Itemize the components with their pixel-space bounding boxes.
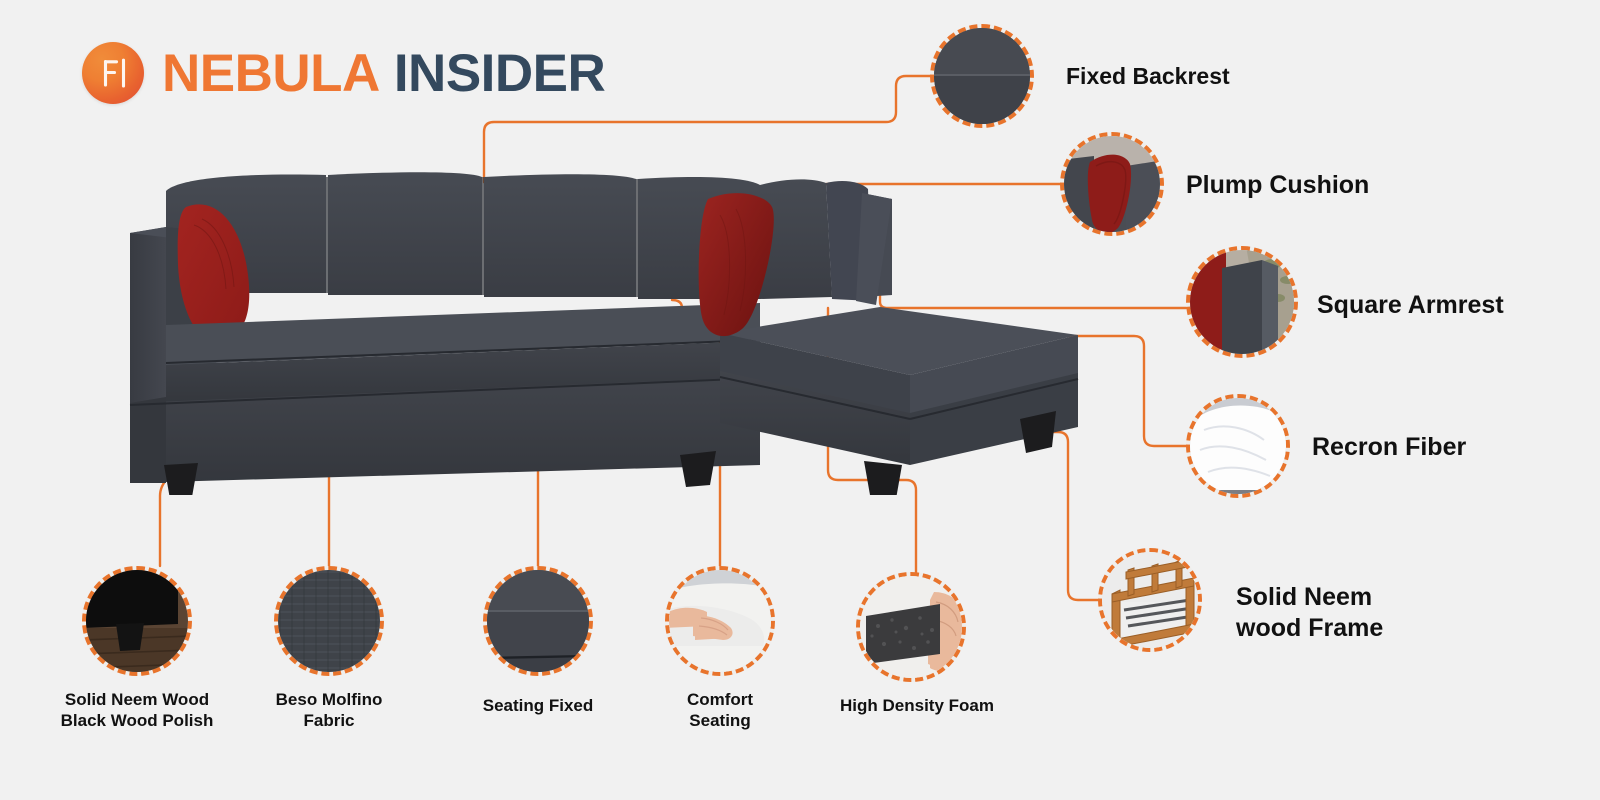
callout-bubble-beso-molfino[interactable] [274,566,384,676]
sofa-corner-backrest [760,179,872,301]
sofa-backrest-fabric-seam-icon [930,24,1034,128]
neem-wood-frame-construction-icon [1098,548,1202,652]
callout-label-comfort-seating: Comfort Seating [650,690,790,731]
square-armrest-closeup-icon [1186,246,1298,358]
infographic-canvas: NEBULAINSIDER [0,0,1600,800]
callout-bubble-fixed-backrest[interactable] [930,24,1034,128]
sofa-seat-block [130,303,760,483]
callout-label-black-wood-polish: Solid Neem Wood Black Wood Polish [27,690,247,731]
callout-label-plump-cushion: Plump Cushion [1186,170,1369,201]
red-accent-pillow-right [699,193,774,336]
hand-pressing-white-foam-icon [665,566,775,676]
callout-bubble-recron-fiber[interactable] [1186,394,1290,498]
callout-bubble-seating-fixed[interactable] [483,566,593,676]
hand-holding-dark-foam-block-icon [856,572,966,682]
white-recron-fiber-fill-icon [1186,394,1290,498]
callout-label-square-armrest: Square Armrest [1317,290,1504,321]
callout-label-high-density-foam: High Density Foam [827,696,1007,717]
callout-bubble-comfort-seating[interactable] [665,566,775,676]
callout-bubble-neem-wood-frame[interactable] [1098,548,1202,652]
callout-label-recron-fiber: Recron Fiber [1312,432,1466,463]
black-polished-wood-leg-icon [82,566,192,676]
red-cushion-on-sofa-icon [1060,132,1164,236]
callout-bubble-high-density-foam[interactable] [856,572,966,682]
fi-monogram-circle-icon [82,42,144,104]
page-title: NEBULAINSIDER [162,47,605,100]
callout-bubble-black-wood-polish[interactable] [82,566,192,676]
sofa-backrest-cushions [166,172,760,299]
callout-bubble-plump-cushion[interactable] [1060,132,1164,236]
callout-label-fixed-backrest: Fixed Backrest [1066,62,1230,90]
brand-name-secondary: INSIDER [394,44,605,103]
brand-header: NEBULAINSIDER [82,42,605,104]
brand-name-primary: NEBULA [162,44,380,103]
callout-bubble-square-armrest[interactable] [1186,246,1298,358]
sofa-product-image [120,165,1100,495]
callout-label-neem-wood-frame: Solid Neem wood Frame [1236,582,1383,643]
callout-label-seating-fixed: Seating Fixed [448,696,628,717]
callout-label-beso-molfino: Beso Molfino Fabric [234,690,424,731]
woven-molfino-fabric-texture-icon [274,566,384,676]
fixed-seat-fabric-seam-icon [483,566,593,676]
